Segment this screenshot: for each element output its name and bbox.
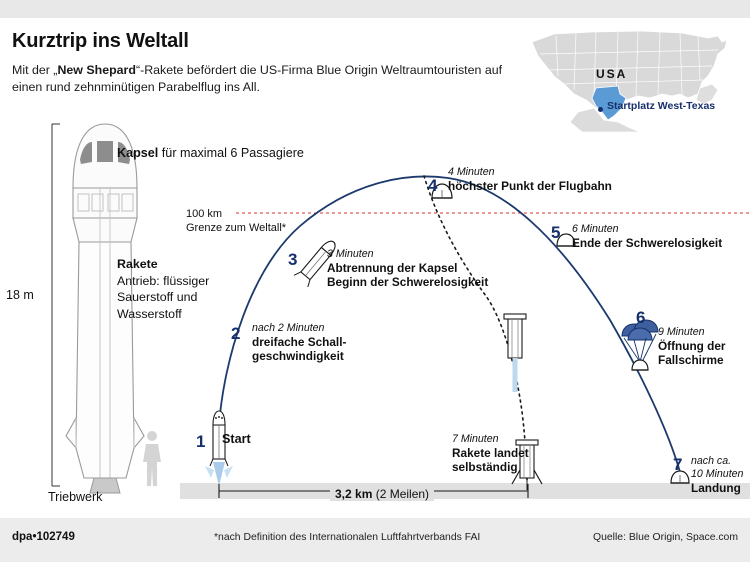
step-4-number: 4 xyxy=(428,176,437,196)
step-7-annotation: 7 nach ca. 10 Minuten Landung xyxy=(673,455,743,495)
booster-icon-descending xyxy=(504,314,526,392)
space-boundary-label: 100 km Grenze zum Weltall* xyxy=(186,207,286,235)
step-5-annotation: 5 6 Minuten Ende der Schwerelosigkeit xyxy=(551,223,722,250)
footer-source: Quelle: Blue Origin, Space.com xyxy=(593,532,738,543)
step-1-annotation: 1 Start xyxy=(196,432,251,446)
step-2-number: 2 xyxy=(231,324,240,344)
distance-scale-label: 3,2 km (2 Meilen) xyxy=(330,487,434,501)
step-3-time: 3 Minuten xyxy=(327,248,488,261)
step-6-label: Öffnung der Fallschirme xyxy=(658,339,726,367)
step-7-time: nach ca. 10 Minuten xyxy=(691,455,743,481)
distance-scale-unit: (2 Meilen) xyxy=(372,487,429,501)
step-5-label: Ende der Schwerelosigkeit xyxy=(572,236,722,250)
step-4-label: höchster Punkt der Flugbahn xyxy=(448,179,612,193)
step-6-time: 9 Minuten xyxy=(658,326,726,339)
step-6-number: 6 xyxy=(636,308,645,328)
distance-scale-value: 3,2 km xyxy=(335,487,372,501)
launch-flame xyxy=(205,462,233,486)
step-5-number: 5 xyxy=(551,223,560,243)
step-2-label: dreifache Schall- geschwindigkeit xyxy=(252,335,346,363)
step-3-number: 3 xyxy=(288,250,297,270)
space-boundary-value: 100 km xyxy=(186,208,222,220)
footer-note: *nach Definition des Internationalen Luf… xyxy=(214,532,480,543)
step-4-time: 4 Minuten xyxy=(448,166,612,179)
step-3-label: Abtrennung der Kapsel Beginn der Schwere… xyxy=(327,261,488,289)
step-1-label: Start xyxy=(222,432,251,446)
step-1-number: 1 xyxy=(196,432,205,452)
infographic-canvas: Kurztrip ins Weltall Mit der „New Shepar… xyxy=(0,0,750,562)
step-6-annotation: 6 9 Minuten Öffnung der Fallschirme xyxy=(636,308,726,367)
step-7-number: 7 xyxy=(673,455,682,475)
space-boundary-note: Grenze zum Weltall* xyxy=(186,222,286,234)
step-2-time: nach 2 Minuten xyxy=(252,322,346,335)
step-5-time: 6 Minuten xyxy=(572,223,722,236)
booster-landing-annotation: 7 Minuten Rakete landet selbständig xyxy=(452,433,529,474)
step-2-annotation: 2 nach 2 Minuten dreifache Schall- gesch… xyxy=(231,322,346,363)
step-4-annotation: 4 4 Minuten höchster Punkt der Flugbahn xyxy=(428,166,612,193)
step-3-annotation: 3 3 Minuten Abtrennung der Kapsel Beginn… xyxy=(288,248,488,289)
booster-landing-label: Rakete landet selbständig xyxy=(452,446,529,474)
booster-landing-time: 7 Minuten xyxy=(452,433,529,446)
footer-credit: dpa•102749 xyxy=(12,531,75,543)
step-7-label: Landung xyxy=(691,481,743,495)
